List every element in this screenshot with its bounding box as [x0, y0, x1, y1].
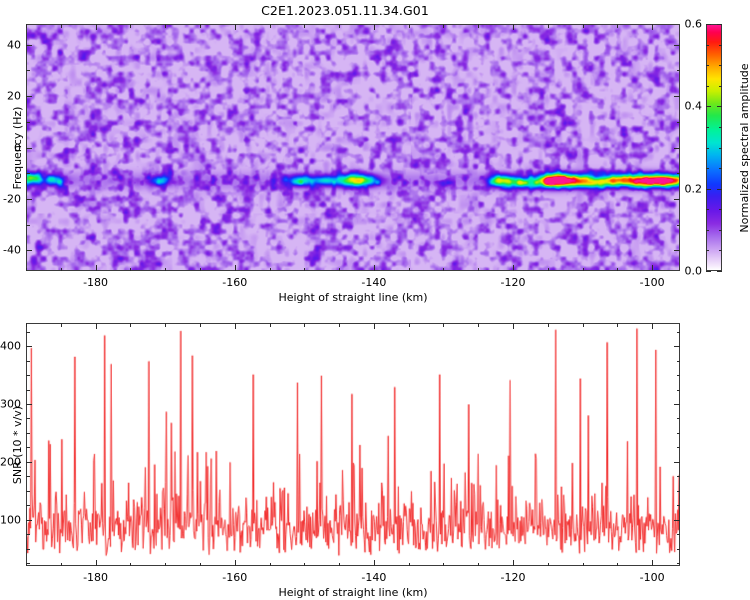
tick-mark: [677, 433, 681, 434]
figure-root: C2E1.2023.051.11.34.G01 -180-160-140-120…: [0, 0, 750, 600]
colorbar-tick-label: 0.4: [685, 100, 703, 113]
tick-mark: [548, 268, 549, 272]
tick-mark: [513, 323, 514, 329]
tick-mark: [583, 268, 584, 272]
tick-mark: [677, 563, 681, 564]
tick-mark: [674, 148, 680, 149]
tick-mark: [677, 375, 681, 376]
tick-mark: [61, 24, 62, 28]
tick-mark: [26, 122, 30, 123]
tick-mark: [478, 24, 479, 28]
tick-mark: [26, 563, 30, 564]
tick-mark: [548, 24, 549, 28]
tick-mark: [548, 323, 549, 327]
tick-mark: [677, 491, 681, 492]
tick-mark: [339, 323, 340, 327]
tick-mark: [26, 96, 32, 97]
tick-mark: [677, 505, 681, 506]
tick-mark: [719, 45, 722, 46]
tick-mark: [706, 148, 709, 149]
spectrogram-x-axis-label: Height of straight line (km): [278, 291, 427, 304]
tick-mark: [719, 65, 722, 66]
tick-mark: [706, 230, 709, 231]
tick-mark: [200, 24, 201, 28]
tick-mark: [26, 549, 30, 550]
tick-mark: [26, 323, 27, 327]
tick-mark: [674, 520, 680, 521]
tick-mark: [26, 462, 32, 463]
x-tick-label: -160: [222, 571, 247, 584]
tick-mark: [409, 563, 410, 567]
tick-mark: [26, 418, 30, 419]
tick-mark: [719, 168, 722, 169]
tick-mark: [719, 230, 722, 231]
tick-mark: [96, 323, 97, 329]
tick-mark: [677, 476, 681, 477]
tick-mark: [677, 361, 681, 362]
colorbar-tick-label: 0.0: [685, 265, 703, 278]
tick-mark: [26, 70, 30, 71]
spectrogram-image: [27, 25, 679, 270]
tick-mark: [583, 24, 584, 28]
y-tick-label: -40: [3, 244, 21, 257]
tick-mark: [270, 563, 271, 567]
tick-mark: [513, 560, 514, 566]
tick-mark: [165, 563, 166, 567]
tick-mark: [270, 268, 271, 272]
x-tick-label: -120: [501, 571, 526, 584]
tick-mark: [706, 271, 711, 272]
tick-mark: [26, 361, 30, 362]
colorbar-tick-label: 0.6: [685, 18, 703, 31]
tick-mark: [706, 65, 709, 66]
tick-mark: [165, 268, 166, 272]
tick-mark: [26, 520, 32, 521]
tick-mark: [130, 323, 131, 327]
x-tick-label: -120: [501, 276, 526, 289]
tick-mark: [717, 24, 722, 25]
tick-mark: [677, 122, 681, 123]
tick-mark: [677, 332, 681, 333]
snr-trace: [27, 324, 679, 565]
tick-mark: [513, 265, 514, 271]
tick-mark: [96, 24, 97, 30]
tick-mark: [677, 549, 681, 550]
tick-mark: [706, 106, 711, 107]
tick-mark: [706, 127, 709, 128]
tick-mark: [26, 199, 32, 200]
tick-mark: [26, 268, 27, 272]
tick-mark: [26, 433, 30, 434]
tick-mark: [719, 209, 722, 210]
tick-mark: [677, 225, 681, 226]
tick-mark: [719, 86, 722, 87]
tick-mark: [674, 199, 680, 200]
tick-mark: [677, 418, 681, 419]
tick-mark: [652, 323, 653, 329]
tick-mark: [26, 332, 30, 333]
tick-mark: [304, 268, 305, 272]
tick-mark: [26, 346, 32, 347]
tick-mark: [719, 250, 722, 251]
y-tick-label: -20: [3, 192, 21, 205]
spectrogram-y-axis-label: Frequency (Hz): [11, 106, 24, 189]
tick-mark: [270, 323, 271, 327]
x-tick-label: -100: [640, 571, 665, 584]
tick-mark: [26, 534, 30, 535]
tick-mark: [706, 209, 709, 210]
tick-mark: [583, 323, 584, 327]
tick-mark: [61, 563, 62, 567]
tick-mark: [674, 45, 680, 46]
x-tick-label: -160: [222, 276, 247, 289]
tick-mark: [130, 563, 131, 567]
tick-mark: [677, 390, 681, 391]
tick-mark: [443, 268, 444, 272]
tick-mark: [674, 346, 680, 347]
tick-mark: [674, 404, 680, 405]
tick-mark: [443, 323, 444, 327]
tick-mark: [583, 563, 584, 567]
tick-mark: [26, 45, 32, 46]
tick-mark: [719, 127, 722, 128]
tick-mark: [235, 265, 236, 271]
y-tick-label: 100: [0, 513, 21, 526]
tick-mark: [677, 173, 681, 174]
tick-mark: [674, 462, 680, 463]
tick-mark: [478, 268, 479, 272]
snr-panel[interactable]: [26, 323, 680, 566]
tick-mark: [96, 560, 97, 566]
tick-mark: [717, 189, 722, 190]
x-tick-label: -140: [361, 276, 386, 289]
tick-mark: [617, 24, 618, 28]
spectrogram-panel[interactable]: [26, 24, 680, 271]
tick-mark: [200, 323, 201, 327]
tick-mark: [677, 70, 681, 71]
tick-mark: [652, 265, 653, 271]
tick-mark: [339, 563, 340, 567]
tick-mark: [96, 265, 97, 271]
tick-mark: [26, 505, 30, 506]
y-tick-label: 400: [0, 340, 21, 353]
tick-mark: [617, 323, 618, 327]
tick-mark: [677, 534, 681, 535]
tick-mark: [304, 563, 305, 567]
x-tick-label: -100: [640, 276, 665, 289]
tick-mark: [270, 24, 271, 28]
tick-mark: [26, 375, 30, 376]
colorbar-axis-label: Normalized spectral amplitude: [738, 63, 750, 232]
tick-mark: [374, 323, 375, 329]
tick-mark: [717, 271, 722, 272]
tick-mark: [339, 268, 340, 272]
tick-mark: [235, 560, 236, 566]
y-tick-label: 20: [7, 90, 21, 103]
tick-mark: [706, 24, 711, 25]
tick-mark: [26, 404, 32, 405]
tick-mark: [706, 45, 709, 46]
colorbar-tick-label: 0.2: [685, 182, 703, 195]
tick-mark: [26, 173, 30, 174]
tick-mark: [548, 563, 549, 567]
tick-mark: [26, 390, 30, 391]
tick-mark: [443, 563, 444, 567]
tick-mark: [304, 323, 305, 327]
tick-mark: [200, 563, 201, 567]
snr-y-axis-label: SNR (10 * v/v): [11, 405, 24, 483]
tick-mark: [409, 24, 410, 28]
tick-mark: [674, 250, 680, 251]
snr-x-axis-label: Height of straight line (km): [278, 586, 427, 599]
tick-mark: [26, 24, 27, 28]
tick-mark: [652, 24, 653, 30]
tick-mark: [339, 24, 340, 28]
tick-mark: [706, 168, 709, 169]
page-title: C2E1.2023.051.11.34.G01: [0, 3, 690, 18]
tick-mark: [443, 24, 444, 28]
tick-mark: [165, 24, 166, 28]
tick-mark: [235, 24, 236, 30]
tick-mark: [374, 560, 375, 566]
tick-mark: [26, 447, 30, 448]
tick-mark: [717, 106, 722, 107]
tick-mark: [200, 268, 201, 272]
y-tick-label: 40: [7, 38, 21, 51]
tick-mark: [478, 323, 479, 327]
tick-mark: [719, 148, 722, 149]
tick-mark: [409, 268, 410, 272]
tick-mark: [513, 24, 514, 30]
x-tick-label: -180: [83, 571, 108, 584]
tick-mark: [374, 24, 375, 30]
tick-mark: [706, 189, 711, 190]
tick-mark: [235, 323, 236, 329]
x-tick-label: -180: [83, 276, 108, 289]
tick-mark: [130, 24, 131, 28]
tick-mark: [617, 563, 618, 567]
tick-mark: [26, 225, 30, 226]
tick-mark: [26, 250, 32, 251]
tick-mark: [26, 148, 32, 149]
tick-mark: [61, 323, 62, 327]
tick-mark: [617, 268, 618, 272]
tick-mark: [26, 476, 30, 477]
tick-mark: [374, 265, 375, 271]
tick-mark: [706, 86, 709, 87]
tick-mark: [706, 250, 709, 251]
x-tick-label: -140: [361, 571, 386, 584]
tick-mark: [677, 447, 681, 448]
tick-mark: [26, 491, 30, 492]
tick-mark: [652, 560, 653, 566]
tick-mark: [61, 268, 62, 272]
tick-mark: [304, 24, 305, 28]
tick-mark: [165, 323, 166, 327]
tick-mark: [674, 96, 680, 97]
tick-mark: [478, 563, 479, 567]
tick-mark: [130, 268, 131, 272]
tick-mark: [409, 323, 410, 327]
